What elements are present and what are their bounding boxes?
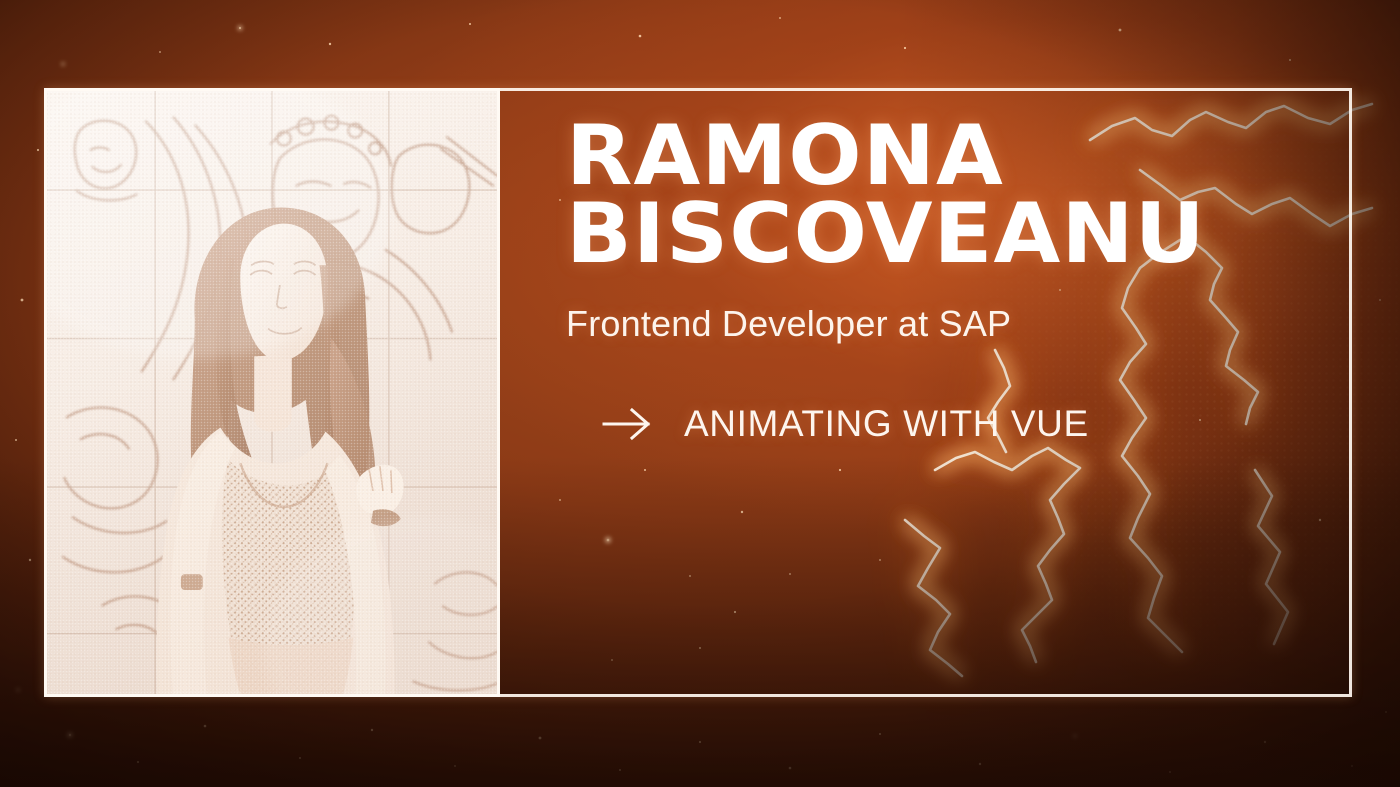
speaker-role: Frontend Developer at SAP — [566, 303, 1356, 345]
talk-row: ANIMATING WITH VUE — [602, 403, 1356, 445]
speaker-last-name: BISCOVEANU — [566, 196, 1388, 272]
talk-title: ANIMATING WITH VUE — [684, 403, 1089, 445]
speaker-photo — [44, 88, 500, 697]
speaker-slide: RAMONA BISCOVEANU Frontend Developer at … — [0, 0, 1400, 787]
arrow-right-icon — [602, 407, 654, 441]
speaker-photo-image — [47, 91, 497, 694]
speaker-first-name: RAMONA — [566, 118, 1388, 194]
speaker-info: RAMONA BISCOVEANU Frontend Developer at … — [566, 118, 1356, 445]
